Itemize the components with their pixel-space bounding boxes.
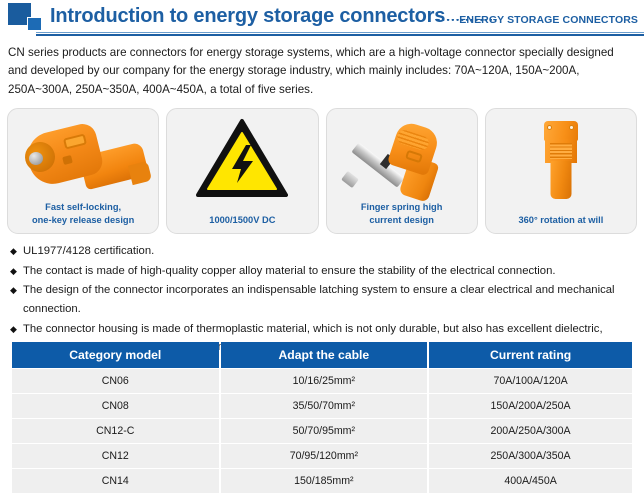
feature-card-label: 1000/1500V DC [171,214,313,227]
label-line-2: current design [369,215,434,225]
orange-connector-plug-icon [8,111,158,199]
header-rule-thin [36,32,644,33]
feature-card-finger-spring: Finger spring high current design [326,108,478,234]
bullet-text: The design of the connector incorporates… [23,281,634,318]
bullet-item: ◆ The contact is made of high-quality co… [10,262,634,281]
feature-card-voltage: 1000/1500V DC [166,108,318,234]
table-row: CN12-C 50/70/95mm² 200A/250A/300A [12,419,632,443]
label-line-1: Finger spring high [361,202,443,212]
cell-model: CN08 [12,394,219,418]
cell-cable: 70/95/120mm² [221,444,428,468]
page-header: Introduction to energy storage connector… [0,0,644,38]
cell-model: CN14 [12,469,219,493]
feature-bullet-list: ◆ UL1977/4128 certification. ◆ The conta… [10,242,634,357]
cell-model: CN06 [12,369,219,393]
header-subtitle: ENERGY STORAGE CONNECTORS [459,14,638,26]
cell-rating: 250A/300A/350A [429,444,632,468]
label-line-2: one-key release design [32,215,134,225]
column-header-category-model: Category model [12,342,219,368]
column-header-adapt-cable: Adapt the cable [221,342,428,368]
table-row: CN12 70/95/120mm² 250A/300A/350A [12,444,632,468]
cell-rating: 200A/250A/300A [429,419,632,443]
diamond-bullet-icon: ◆ [10,262,23,281]
cell-cable: 50/70/95mm² [221,419,428,443]
logo-square-small [27,17,42,31]
page-title: Introduction to energy storage connector… [50,5,445,28]
feature-card-label: 360° rotation at will [490,214,632,227]
bullet-text: The contact is made of high-quality copp… [23,262,634,281]
table-row: CN08 35/50/70mm² 150A/200A/250A [12,394,632,418]
table-row: CN14 150/185mm² 400A/450A [12,469,632,493]
table-body: CN06 10/16/25mm² 70A/100A/120A CN08 35/5… [12,369,632,493]
feature-card-rotation: 360° rotation at will [485,108,637,234]
header-rule-thick [36,34,644,36]
right-angle-connector-with-pin-icon [327,111,477,199]
feature-card-label: Fast self-locking, one-key release desig… [12,201,154,226]
feature-card-list: Fast self-locking, one-key release desig… [7,108,637,234]
diamond-bullet-icon: ◆ [10,281,23,300]
cell-model: CN12-C [12,419,219,443]
vertical-connector-flange-icon [486,111,636,199]
cell-model: CN12 [12,444,219,468]
bullet-text: UL1977/4128 certification. [23,242,634,261]
bullet-item: ◆ UL1977/4128 certification. [10,242,634,261]
high-voltage-warning-triangle-icon [167,111,317,199]
column-header-current-rating: Current rating [429,342,632,368]
feature-card-label: Finger spring high current design [331,201,473,226]
cell-cable: 35/50/70mm² [221,394,428,418]
warning-triangle-svg [196,117,288,199]
cell-cable: 150/185mm² [221,469,428,493]
label-line-1: Fast self-locking, [45,202,121,212]
cell-rating: 150A/200A/250A [429,394,632,418]
cell-cable: 10/16/25mm² [221,369,428,393]
table-header-row: Category model Adapt the cable Current r… [12,342,632,368]
cell-rating: 400A/450A [429,469,632,493]
cell-rating: 70A/100A/120A [429,369,632,393]
diamond-bullet-icon: ◆ [10,242,23,261]
table-row: CN06 10/16/25mm² 70A/100A/120A [12,369,632,393]
intro-paragraph: CN series products are connectors for en… [8,44,636,99]
page-root: Introduction to energy storage connector… [0,0,644,500]
diamond-bullet-icon: ◆ [10,320,23,339]
bullet-item: ◆ The design of the connector incorporat… [10,281,634,318]
company-logo-icon [8,3,54,33]
specification-table: Category model Adapt the cable Current r… [10,341,634,494]
feature-card-self-locking: Fast self-locking, one-key release desig… [7,108,159,234]
